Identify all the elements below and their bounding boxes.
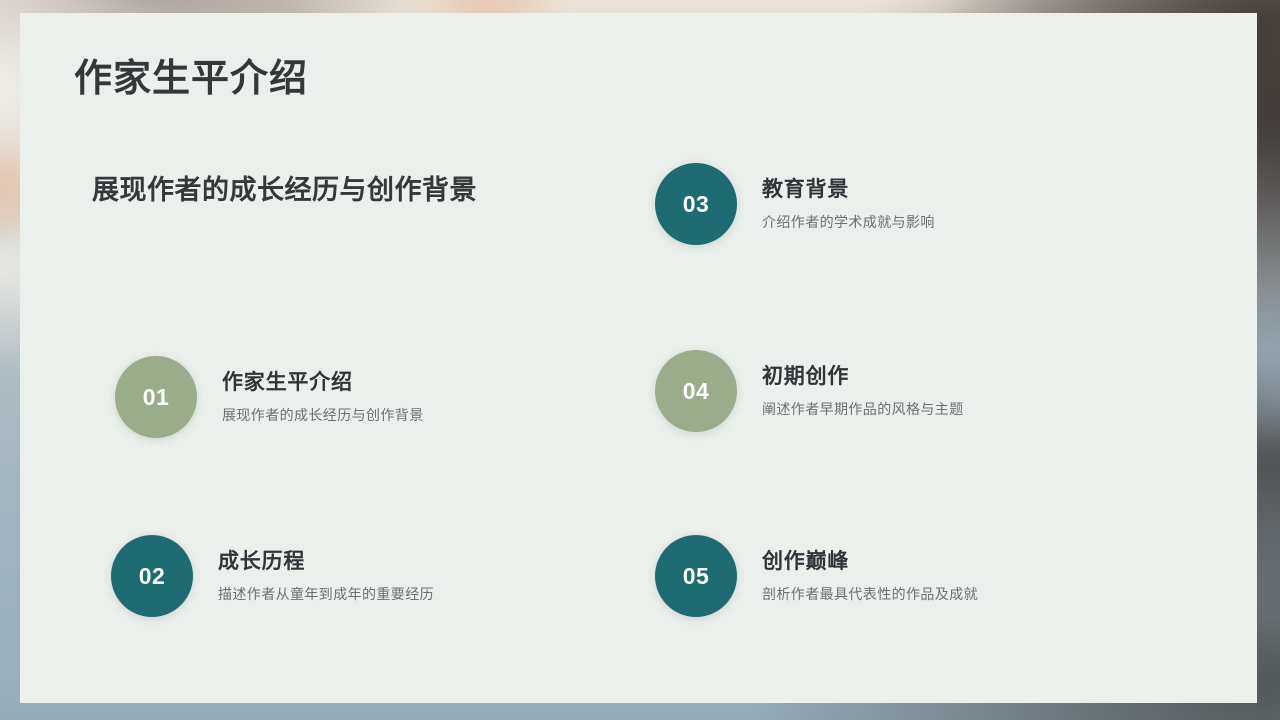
content-card: 作家生平介绍 展现作者的成长经历与创作背景 01 作家生平介绍 展现作者的成长经… [20,13,1257,703]
item-title: 创作巅峰 [762,549,978,575]
item-text-block: 教育背景 介绍作者的学术成就与影响 [762,177,935,231]
item-number-badge: 05 [655,535,737,617]
item-title: 成长历程 [218,549,434,575]
item-text-block: 初期创作 阐述作者早期作品的风格与主题 [762,364,964,418]
item-description: 剖析作者最具代表性的作品及成就 [762,585,978,603]
lead-paragraph: 展现作者的成长经历与创作背景 [92,171,522,210]
item-description: 阐述作者早期作品的风格与主题 [762,400,964,418]
item-description: 描述作者从童年到成年的重要经历 [218,585,434,603]
agenda-item-03[interactable]: 03 教育背景 介绍作者的学术成就与影响 [655,163,935,245]
agenda-item-04[interactable]: 04 初期创作 阐述作者早期作品的风格与主题 [655,350,964,432]
item-title: 作家生平介绍 [222,370,424,396]
item-number-badge: 04 [655,350,737,432]
agenda-item-01[interactable]: 01 作家生平介绍 展现作者的成长经历与创作背景 [115,356,424,438]
item-number-badge: 01 [115,356,197,438]
agenda-item-05[interactable]: 05 创作巅峰 剖析作者最具代表性的作品及成就 [655,535,978,617]
item-description: 展现作者的成长经历与创作背景 [222,406,424,424]
item-text-block: 创作巅峰 剖析作者最具代表性的作品及成就 [762,549,978,603]
item-number-badge: 02 [111,535,193,617]
item-title: 教育背景 [762,177,935,203]
item-text-block: 成长历程 描述作者从童年到成年的重要经历 [218,549,434,603]
page-title: 作家生平介绍 [74,57,308,103]
item-number-badge: 03 [655,163,737,245]
agenda-item-02[interactable]: 02 成长历程 描述作者从童年到成年的重要经历 [111,535,434,617]
item-title: 初期创作 [762,364,964,390]
item-text-block: 作家生平介绍 展现作者的成长经历与创作背景 [222,370,424,424]
presentation-slide: 作家生平介绍 展现作者的成长经历与创作背景 01 作家生平介绍 展现作者的成长经… [0,0,1280,720]
item-description: 介绍作者的学术成就与影响 [762,213,935,231]
